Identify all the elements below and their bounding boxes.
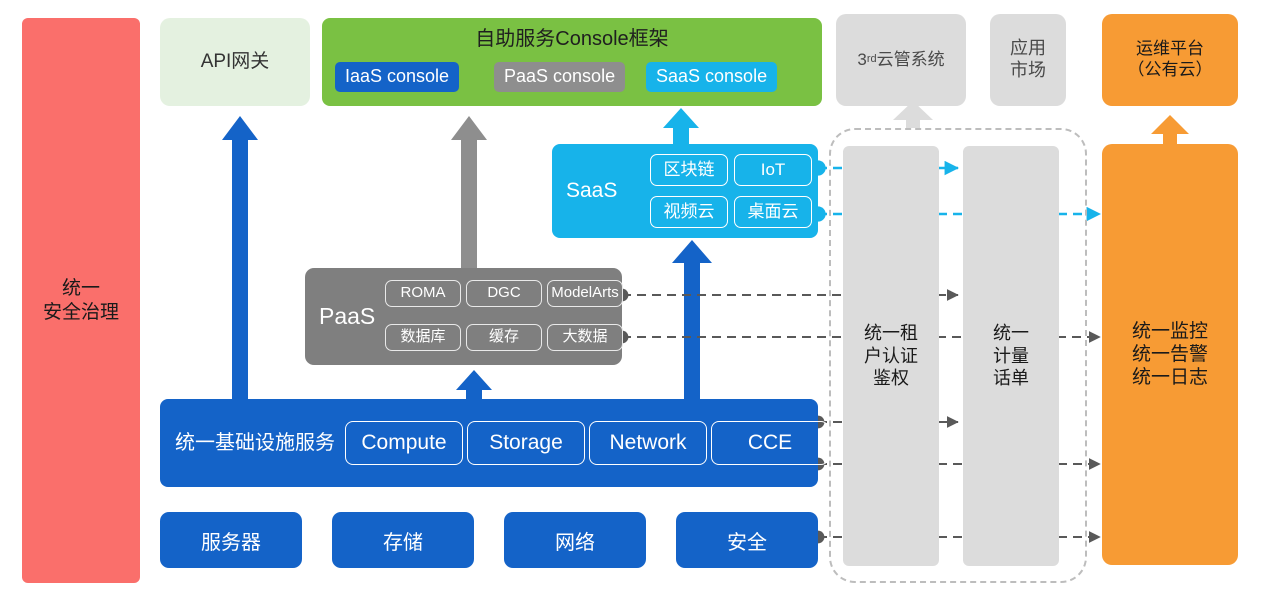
infrastructure-label: 统一基础设施服务: [175, 399, 335, 487]
arrow-infra-to-paas: [456, 370, 492, 399]
arrow-infra-to-api-gateway: [222, 116, 258, 399]
arrow-shared-to-ops: [1151, 115, 1189, 144]
resource-box-network[interactable]: 网络: [504, 512, 646, 568]
unified-metering-billing-column[interactable]: 统一 计量 话单: [963, 146, 1059, 566]
arrow-paas-to-console: [451, 116, 487, 268]
ops-platform-header-box[interactable]: 运维平台 （公有云）: [1102, 14, 1238, 106]
saas-chip-blockchain[interactable]: 区块链: [650, 154, 728, 186]
console-frame-title: 自助服务Console框架: [322, 27, 822, 51]
paas-chip-roma[interactable]: ROMA: [385, 280, 461, 307]
third-party-label-sup: rd: [867, 53, 877, 66]
third-party-label-prefix: 3: [857, 50, 866, 71]
resource-box-server[interactable]: 服务器: [160, 512, 302, 568]
iaas-console-chip[interactable]: IaaS console: [335, 62, 459, 92]
third-party-label-suffix: 云管系统: [877, 50, 945, 71]
ops-platform-body-box[interactable]: 统一监控 统一告警 统一日志: [1102, 144, 1238, 565]
saas-chip-desktop-cloud[interactable]: 桌面云: [734, 196, 812, 228]
architecture-diagram: 统一 安全治理 API网关 自助服务Console框架 IaaS console…: [0, 0, 1265, 605]
third-party-cloud-management-box[interactable]: 3rd云管系统: [836, 14, 966, 106]
saas-layer[interactable]: SaaS 区块链 IoT 视频云 桌面云: [552, 144, 818, 238]
saas-layer-label: SaaS: [566, 144, 617, 238]
infra-chip-cce[interactable]: CCE: [711, 421, 829, 465]
paas-chip-bigdata[interactable]: 大数据: [547, 324, 623, 351]
api-gateway-box[interactable]: API网关: [160, 18, 310, 106]
paas-layer-label: PaaS: [319, 268, 375, 365]
saas-chip-iot[interactable]: IoT: [734, 154, 812, 186]
arrow-infra-to-saas: [672, 240, 712, 399]
arrow-saas-to-console: [663, 108, 699, 144]
unified-security-governance-panel[interactable]: 统一 安全治理: [22, 18, 140, 583]
paas-chip-modelarts[interactable]: ModelArts: [547, 280, 623, 307]
resource-box-security[interactable]: 安全: [676, 512, 818, 568]
unified-infrastructure-service-bar[interactable]: 统一基础设施服务 Compute Storage Network CCE: [160, 399, 818, 487]
paas-layer[interactable]: PaaS ROMA DGC ModelArts 数据库 缓存 大数据: [305, 268, 622, 365]
app-market-box[interactable]: 应用 市场: [990, 14, 1066, 106]
saas-chip-video-cloud[interactable]: 视频云: [650, 196, 728, 228]
paas-chip-dgc[interactable]: DGC: [466, 280, 542, 307]
unified-tenant-auth-column[interactable]: 统一租 户认证 鉴权: [843, 146, 939, 566]
resource-box-storage[interactable]: 存储: [332, 512, 474, 568]
paas-chip-cache[interactable]: 缓存: [466, 324, 542, 351]
infra-chip-compute[interactable]: Compute: [345, 421, 463, 465]
saas-console-chip[interactable]: SaaS console: [646, 62, 777, 92]
self-service-console-frame[interactable]: 自助服务Console框架 IaaS console PaaS console …: [322, 18, 822, 106]
paas-console-chip[interactable]: PaaS console: [494, 62, 625, 92]
infra-chip-storage[interactable]: Storage: [467, 421, 585, 465]
infra-chip-network[interactable]: Network: [589, 421, 707, 465]
paas-chip-database[interactable]: 数据库: [385, 324, 461, 351]
